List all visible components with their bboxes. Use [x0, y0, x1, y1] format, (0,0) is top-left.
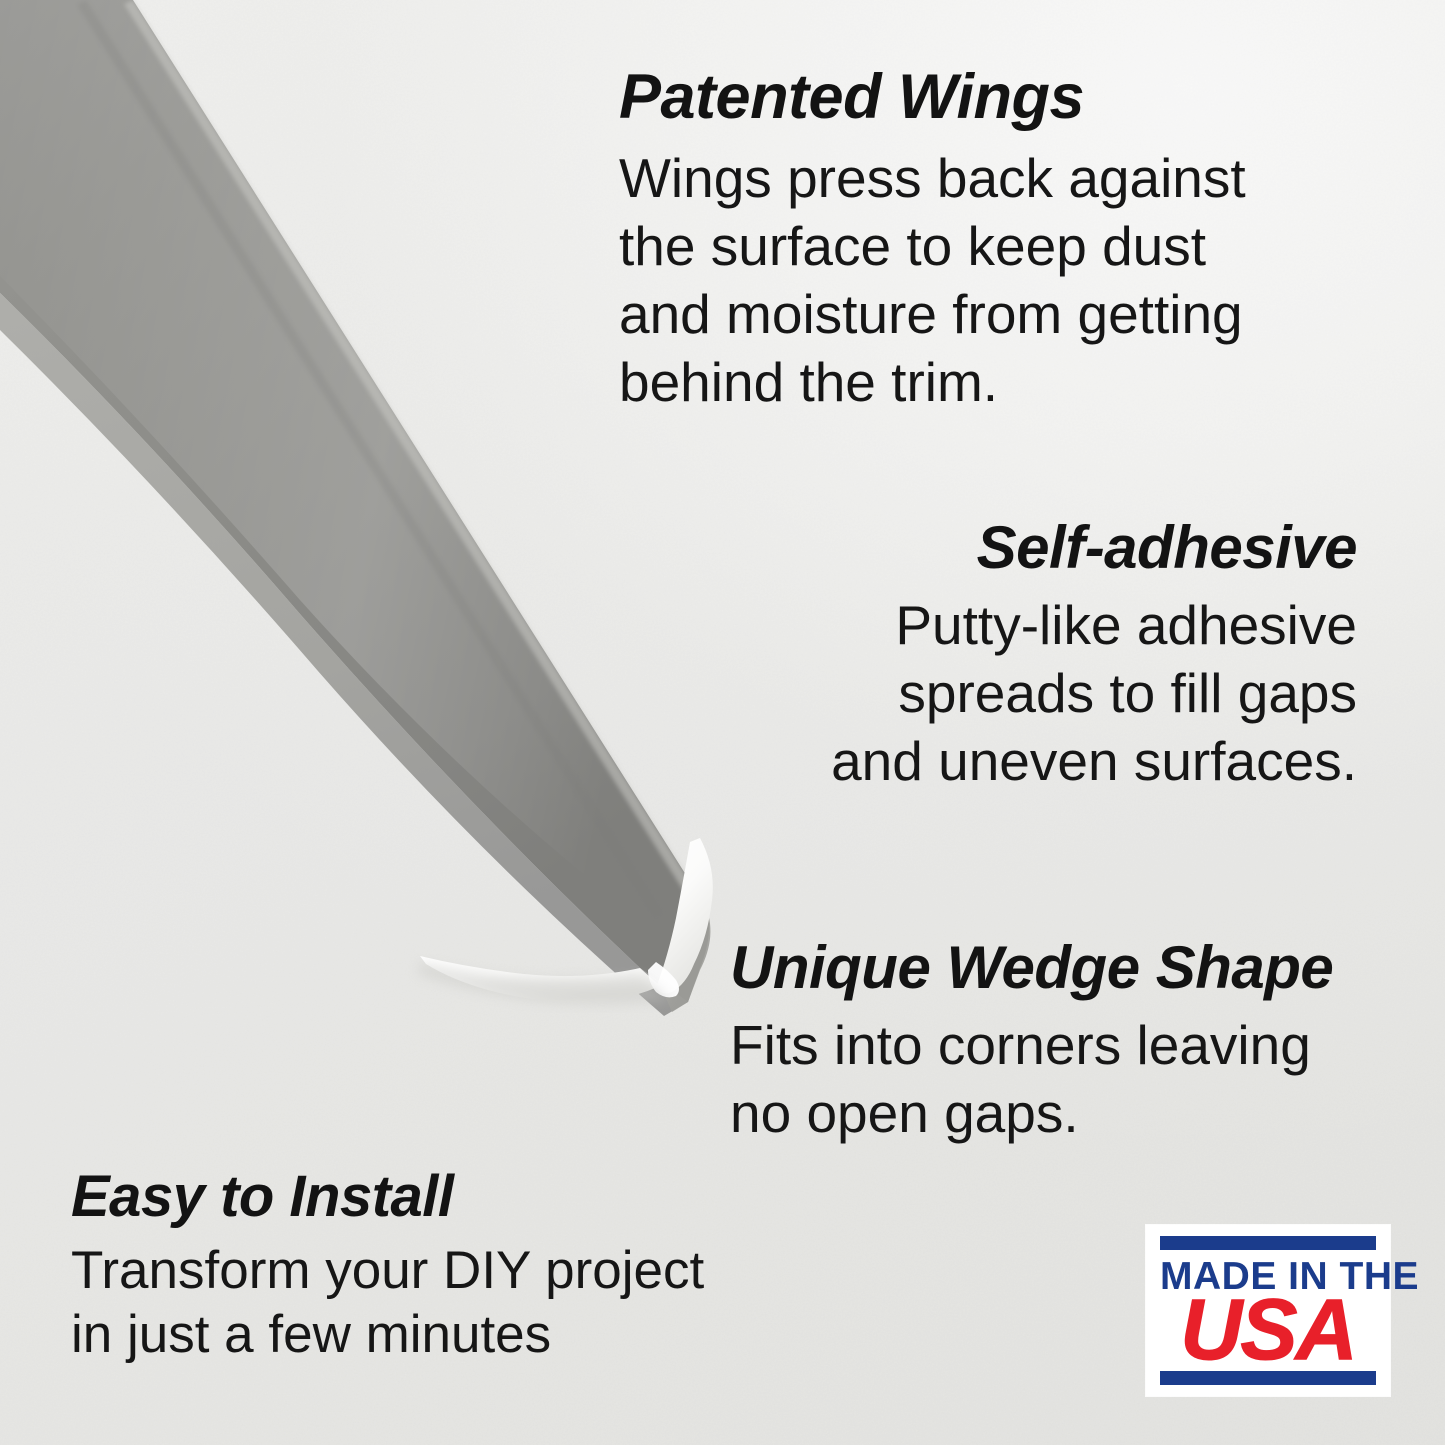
feature-body-line: Fits into corners leaving — [730, 1018, 1333, 1073]
feature-body-line: and moisture from getting — [619, 287, 1246, 342]
feature-block-patented-wings: Patented Wings Wings press back against … — [619, 66, 1246, 423]
feature-body-line: behind the trim. — [619, 355, 1246, 410]
feature-body-line: Wings press back against — [619, 151, 1246, 206]
feature-body-patented-wings: Wings press back against the surface to … — [619, 151, 1246, 410]
badge-top-bar — [1160, 1236, 1376, 1250]
feature-body-line: the surface to keep dust — [619, 219, 1246, 274]
feature-block-easy-to-install: Easy to Install Transform your DIY proje… — [71, 1168, 704, 1372]
feature-block-self-adhesive: Self-adhesive Putty-like adhesive spread… — [831, 518, 1357, 802]
feature-body-line: Transform your DIY project — [71, 1244, 704, 1297]
feature-body-line: and uneven surfaces. — [831, 734, 1357, 789]
feature-body-line: in just a few minutes — [71, 1308, 704, 1361]
feature-heading-patented-wings: Patented Wings — [619, 66, 1246, 129]
feature-block-unique-wedge-shape: Unique Wedge Shape Fits into corners lea… — [730, 938, 1333, 1154]
feature-body-unique-wedge-shape: Fits into corners leaving no open gaps. — [730, 1018, 1333, 1141]
feature-body-line: no open gaps. — [730, 1086, 1333, 1141]
feature-heading-unique-wedge-shape: Unique Wedge Shape — [730, 938, 1333, 998]
feature-heading-easy-to-install: Easy to Install — [71, 1168, 704, 1226]
feature-body-easy-to-install: Transform your DIY project in just a few… — [71, 1244, 704, 1361]
made-in-usa-badge: MADE IN THE USA — [1146, 1225, 1390, 1396]
feature-heading-self-adhesive: Self-adhesive — [831, 518, 1357, 578]
feature-body-line: Putty-like adhesive — [831, 598, 1357, 653]
badge-usa-text: USA — [1160, 1294, 1376, 1366]
product-infographic: Patented Wings Wings press back against … — [0, 0, 1445, 1445]
feature-body-self-adhesive: Putty-like adhesive spreads to fill gaps… — [831, 598, 1357, 789]
feature-body-line: spreads to fill gaps — [831, 666, 1357, 721]
badge-bottom-bar — [1160, 1371, 1376, 1385]
